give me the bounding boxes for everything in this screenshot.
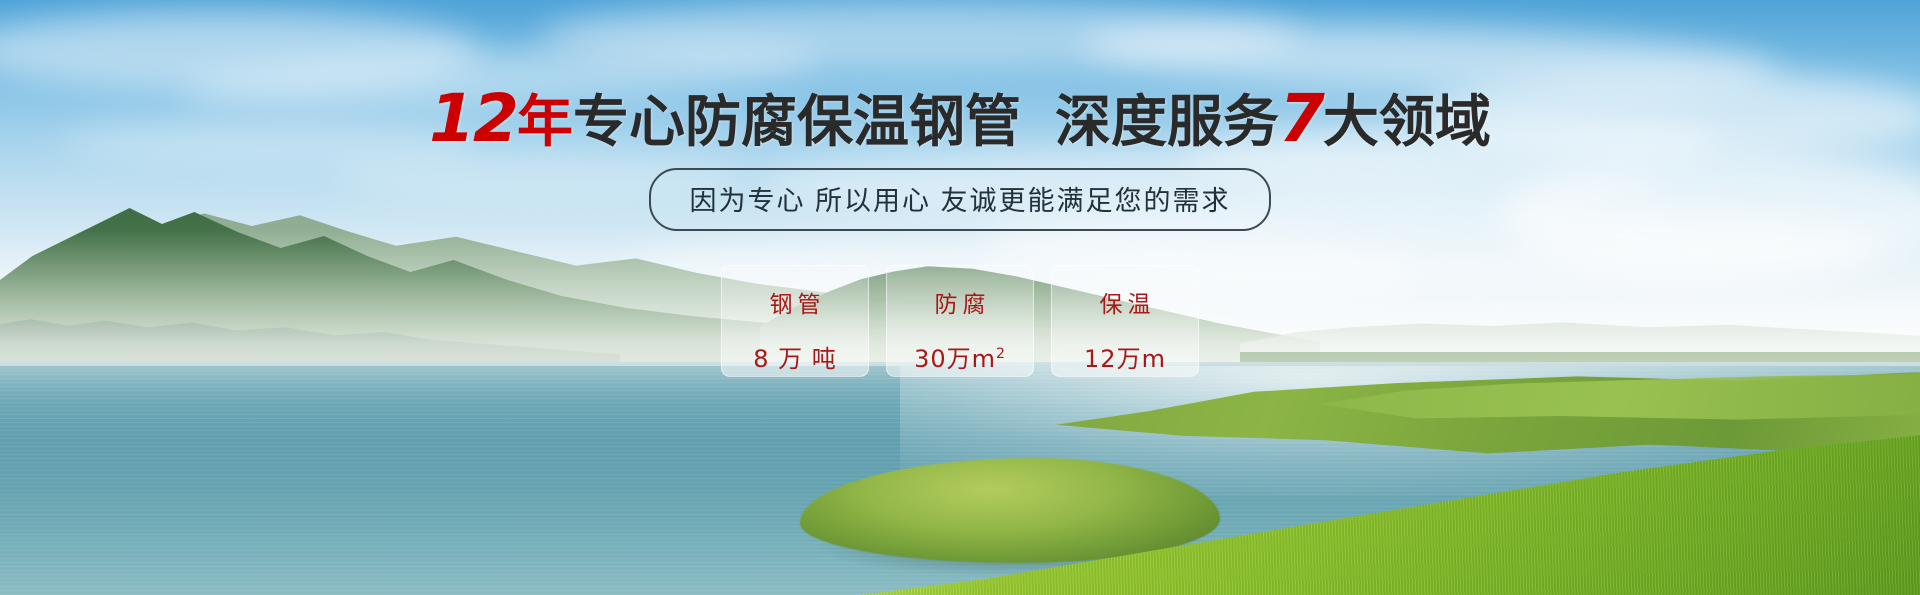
stat-card-value: 30万m2 [914,339,1006,374]
headline-years-unit: 年 [517,90,573,153]
stat-value-superscript: 2 [996,346,1006,362]
stat-card-insulation: 保温 12万m [1051,265,1199,377]
stat-card-steel-pipe: 钢管 8 万 吨 [721,265,869,377]
stat-cards: 钢管 8 万 吨 防腐 30万m2 保温 12万m [0,265,1920,377]
headline-main-text: 专心防腐保温钢管 [573,90,1021,153]
subtitle-pill: 因为专心 所以用心 友诚更能满足您的需求 [649,168,1270,231]
stat-card-title: 防腐 [930,285,991,319]
headline: 12年专心防腐保温钢管深度服务7大领域 [0,86,1920,152]
headline-years-number: 12 [429,80,517,157]
stat-value-text: 8 万 吨 [753,345,837,373]
stat-card-title: 保温 [1095,285,1156,319]
banner-content: 12年专心防腐保温钢管深度服务7大领域 因为专心 所以用心 友诚更能满足您的需求… [0,0,1920,595]
stat-card-title: 钢管 [765,285,826,319]
headline-service-text: 深度服务 [1055,90,1279,153]
subtitle-container: 因为专心 所以用心 友诚更能满足您的需求 [0,168,1920,231]
stat-value-text: 12万m [1084,345,1166,373]
stat-card-anticorrosion: 防腐 30万m2 [886,265,1034,377]
stat-card-value: 12万m [1084,339,1166,374]
headline-fields-text: 大领域 [1323,90,1491,153]
stat-card-value: 8 万 吨 [753,339,837,374]
stat-value-text: 30万m [914,345,996,373]
promotional-banner: 12年专心防腐保温钢管深度服务7大领域 因为专心 所以用心 友诚更能满足您的需求… [0,0,1920,595]
headline-fields-number: 7 [1279,80,1323,157]
